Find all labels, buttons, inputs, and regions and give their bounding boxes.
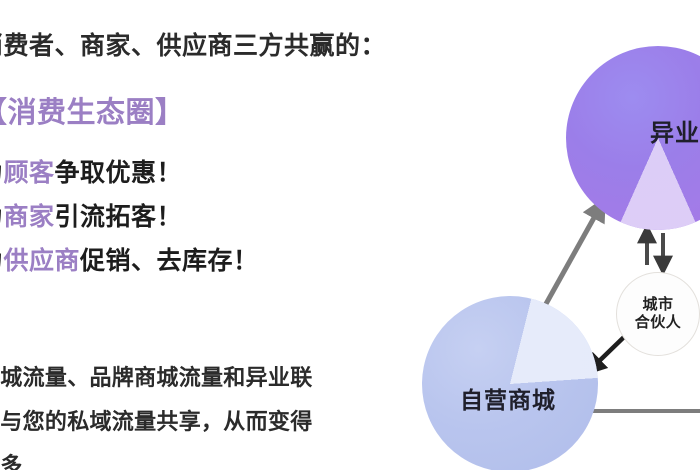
city-partner-line1: 城市 xyxy=(635,296,682,314)
connector-partner-to-mall xyxy=(592,337,624,368)
paragraph-line-3: 更多 xyxy=(0,455,23,470)
ecosystem-diagram: 异业联盟 自营商城 城市 合伙人 xyxy=(400,0,700,470)
bullet-3-suffix: 促销、去库存！ xyxy=(80,247,259,275)
text-column: 消费者、商家、供应商三方共赢的： 【消费生态圈】 为顾客争取优惠！ 为商家引流拓… xyxy=(0,0,398,470)
node-city-partner-label: 城市 合伙人 xyxy=(635,296,682,331)
node-city-partner[interactable]: 城市 合伙人 xyxy=(616,272,700,356)
slide-canvas: 消费者、商家、供应商三方共赢的： 【消费生态圈】 为顾客争取优惠！ 为商家引流拓… xyxy=(0,0,700,470)
bullet-2-keyword: 商家 xyxy=(4,203,55,231)
bullet-item-2: 为商家引流拓客！ xyxy=(0,205,182,230)
paragraph-line-1: 商城流量、品牌商城流量和异业联 xyxy=(0,367,313,389)
paragraph-line-2: 量与您的私域流量共享，从而变得 xyxy=(0,411,313,433)
connector-mall-baseline xyxy=(590,409,700,413)
bullet-2-suffix: 引流拓客！ xyxy=(55,203,183,231)
intro-line: 消费者、商家、供应商三方共赢的： xyxy=(0,34,386,59)
node-alliance-label: 异业联盟 xyxy=(650,113,700,148)
bullet-item-3: 为供应商促销、去库存！ xyxy=(0,249,259,274)
bullet-1-suffix: 争取优惠！ xyxy=(55,159,183,187)
eco-heading: 【消费生态圈】 xyxy=(0,99,185,128)
bullet-1-keyword: 顾客 xyxy=(4,159,55,187)
bullet-3-keyword: 供应商 xyxy=(4,247,81,275)
bullet-item-1: 为顾客争取优惠！ xyxy=(0,161,182,186)
city-partner-line2: 合伙人 xyxy=(635,314,682,332)
node-self-mall[interactable]: 自营商城 xyxy=(422,296,598,470)
node-self-mall-label: 自营商城 xyxy=(460,381,556,415)
